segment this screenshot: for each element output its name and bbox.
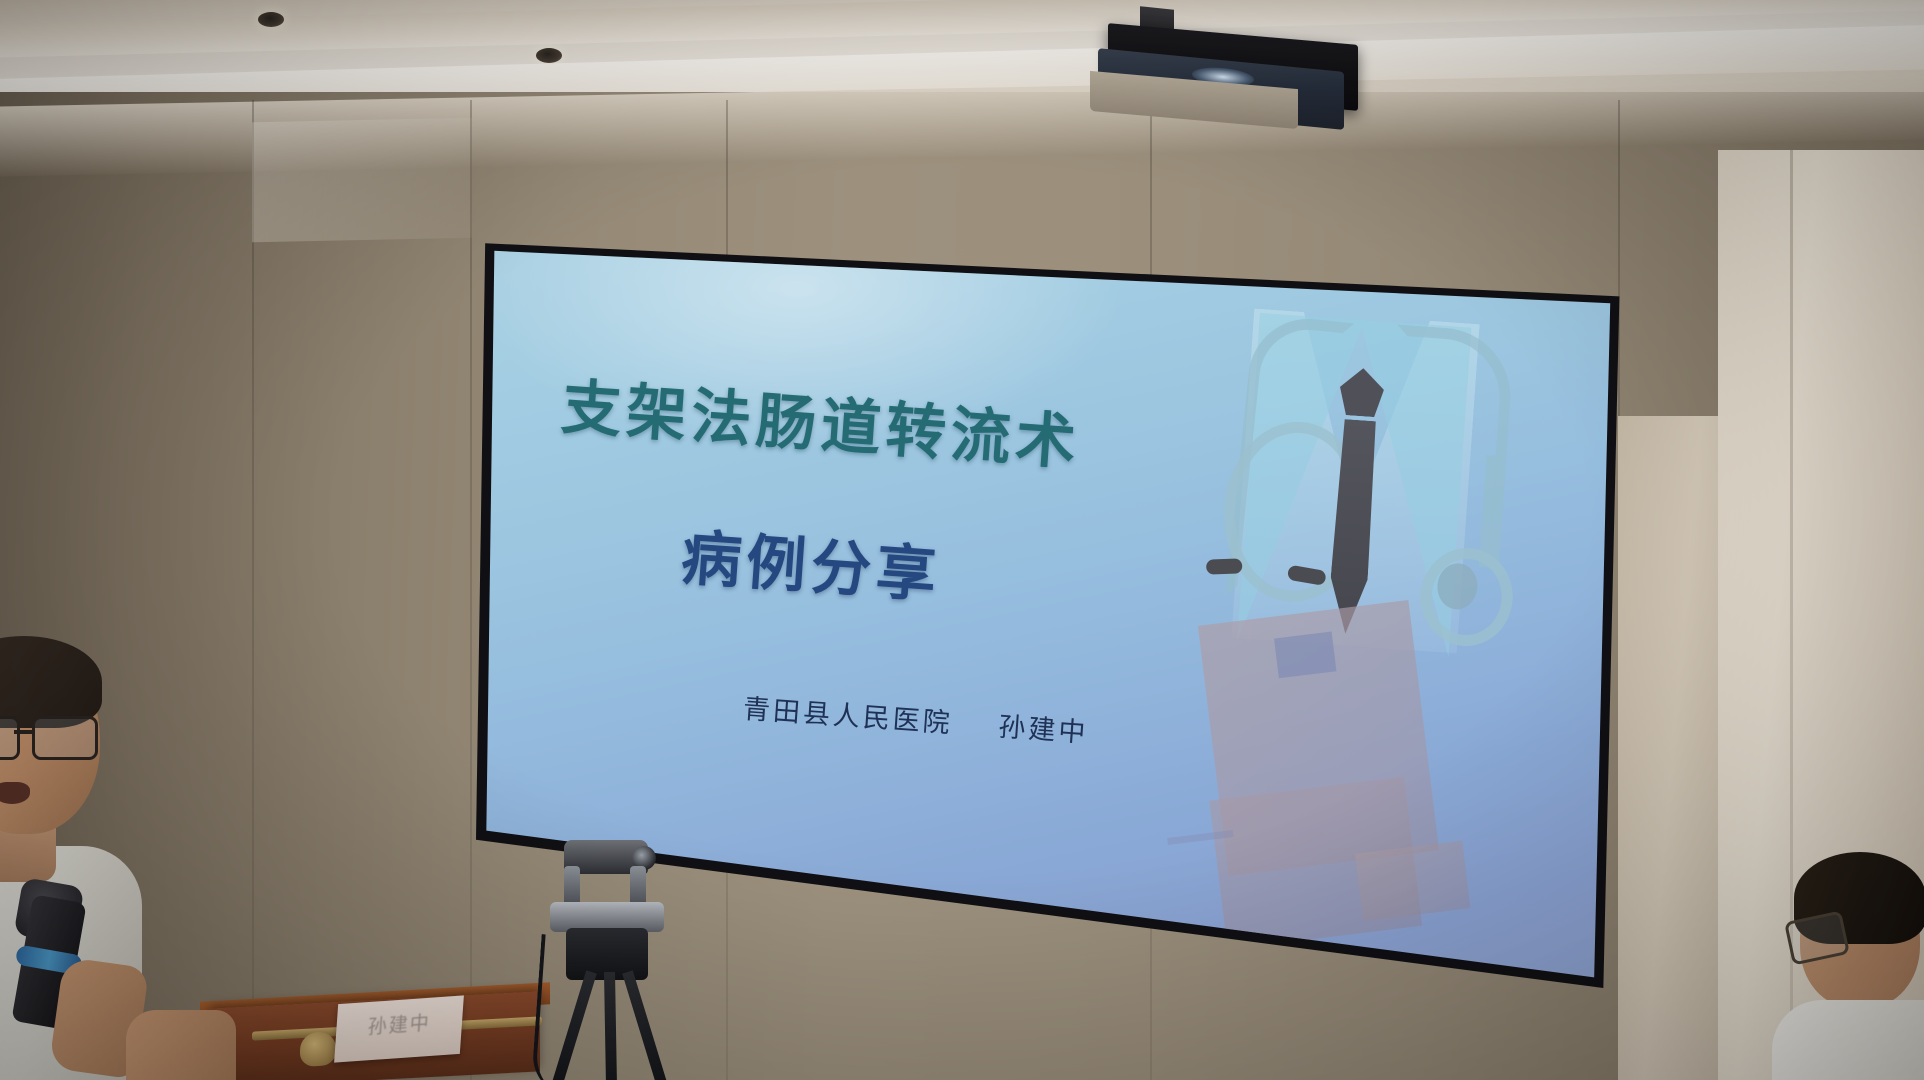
camera-tripod-rig: [520, 840, 710, 1080]
wall-panel-highlight: [252, 118, 472, 243]
attendee-bottom-right: [1778, 868, 1924, 1080]
downlight-icon-1: [536, 48, 562, 63]
camera-cable: [530, 934, 603, 1080]
speaker-hand-on-podium: [126, 1010, 236, 1080]
tripod-leg-right: [622, 970, 676, 1080]
clipboard-artwork: [1166, 603, 1490, 983]
podium-ornament: [300, 1031, 336, 1067]
wall-seam-1: [252, 100, 254, 1080]
downlight-icon-5: [258, 12, 284, 27]
tripod-leg-center: [604, 972, 618, 1080]
podium-nameplate: 孙建中: [334, 995, 464, 1062]
presentation-room-scene: 支架法肠道转流术 病例分享 青田县人民医院孙建中 孙建中: [0, 0, 1924, 1080]
speaker-glasses-icon: [0, 716, 100, 756]
speaker-hair: [0, 636, 102, 728]
byline-spacer: [952, 732, 998, 735]
ceiling-projector: [1096, 8, 1364, 116]
byline-institution: 青田县人民医院: [742, 694, 954, 739]
byline-presenter: 孙建中: [997, 712, 1089, 748]
slide-subtitle: 病例分享: [479, 495, 1143, 628]
podium-nameplate-text: 孙建中: [336, 1005, 464, 1041]
slide-byline: 青田县人民医院孙建中: [742, 687, 1164, 755]
stethoscope-tube-right: [1381, 325, 1515, 565]
attendee-shoulders: [1772, 1000, 1924, 1080]
stethoscope-eartip-left-icon: [1206, 558, 1243, 574]
slide-title: 支架法肠道转流术: [489, 354, 1153, 487]
clipboard-clip-icon: [1274, 631, 1336, 678]
glasses-lens-left: [0, 716, 20, 760]
glasses-bridge: [14, 730, 34, 734]
wall-panel-right-inner: [1618, 416, 1728, 1080]
wall-seam-2: [470, 100, 472, 1080]
glasses-lens-right: [32, 716, 98, 760]
clipboard-corner-fold: [1355, 841, 1470, 922]
